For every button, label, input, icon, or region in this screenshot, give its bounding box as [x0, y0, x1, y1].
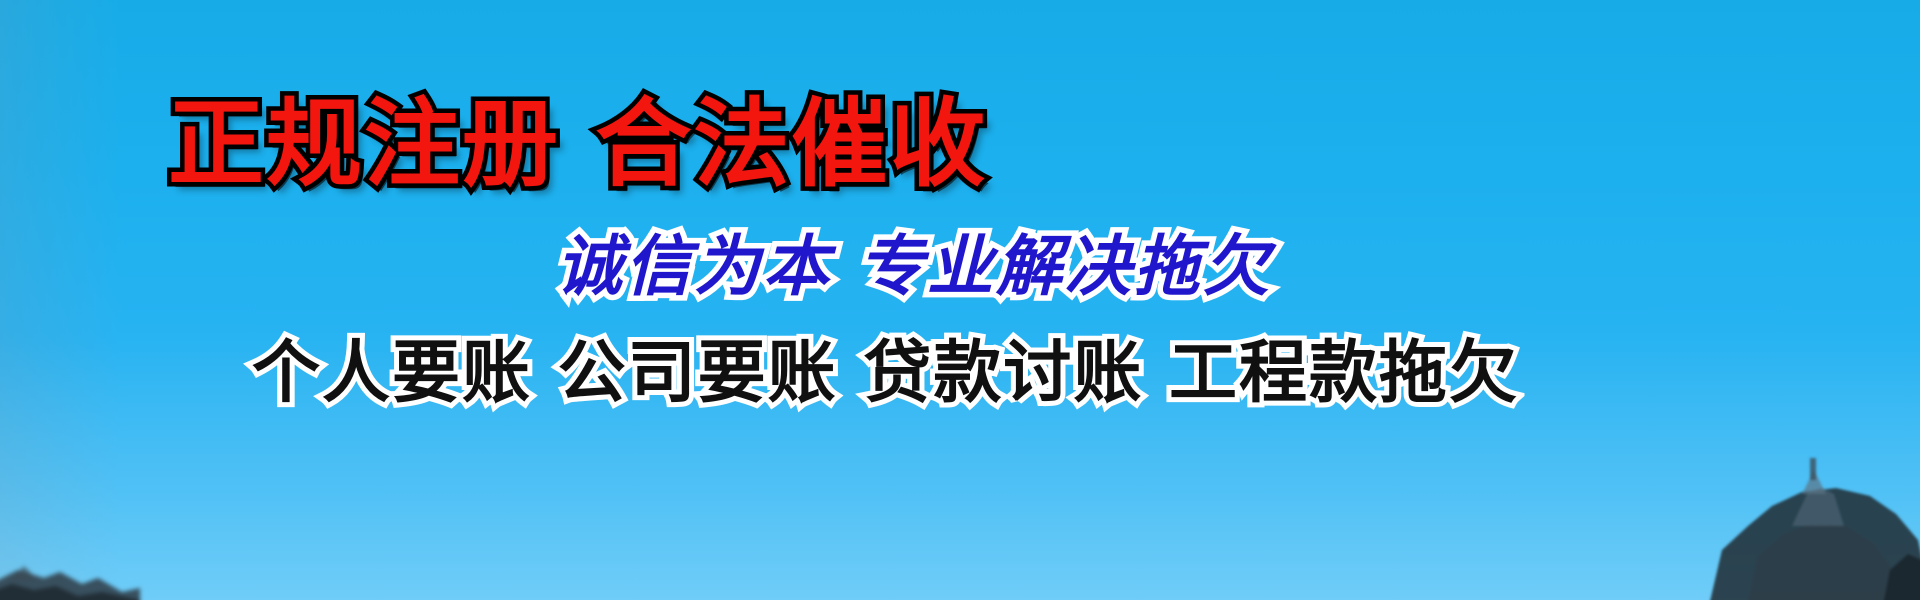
banner-headline: 正规注册 合法催收: [168, 96, 987, 192]
banner-services-list: 个人要账 公司要账 贷款讨账 工程款拖欠: [252, 340, 1519, 408]
banner-slogan: 诚信为本 专业解决拖欠: [556, 234, 1272, 300]
banner-text-stack: 正规注册 合法催收 诚信为本 专业解决拖欠 个人要账 公司要账 贷款讨账 工程款…: [0, 0, 1920, 600]
promotional-banner: 正规注册 合法催收 诚信为本 专业解决拖欠 个人要账 公司要账 贷款讨账 工程款…: [0, 0, 1920, 600]
